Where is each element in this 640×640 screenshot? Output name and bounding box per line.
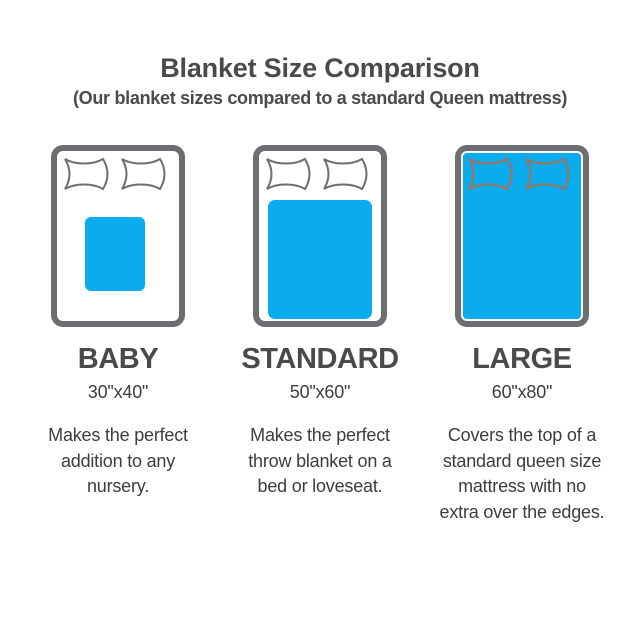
size-name-large: LARGE: [472, 345, 572, 374]
size-dimensions-standard: 50"x60": [290, 383, 350, 401]
size-description-baby: Makes the perfect addition to any nurser…: [33, 423, 203, 500]
pillow-icon-right: [324, 159, 367, 189]
blanket-icon: [85, 217, 145, 291]
page-subtitle: (Our blanket sizes compared to a standar…: [0, 89, 640, 109]
bed-icon: [51, 145, 185, 327]
bed-illustration-large: [455, 145, 589, 327]
pillow-icon-left: [65, 159, 108, 189]
bed-illustration-baby: [51, 145, 185, 327]
page-title: Blanket Size Comparison: [0, 54, 640, 82]
pillow-icon-right: [122, 159, 165, 189]
header: Blanket Size Comparison (Our blanket siz…: [0, 54, 640, 109]
size-dimensions-large: 60"x80": [492, 383, 552, 401]
pillow-icon-left: [267, 159, 310, 189]
size-name-baby: BABY: [78, 345, 159, 374]
comparison-column-baby: BABY 30"x40" Makes the perfect addition …: [26, 145, 210, 525]
size-description-large: Covers the top of a standard queen size …: [437, 423, 607, 525]
comparison-column-large: LARGE 60"x80" Covers the top of a standa…: [430, 145, 614, 525]
bed-icon: [455, 145, 589, 327]
size-description-standard: Makes the perfect throw blanket on a bed…: [235, 423, 405, 500]
comparison-column-standard: STANDARD 50"x60" Makes the perfect throw…: [228, 145, 412, 525]
blanket-icon: [463, 153, 581, 319]
size-name-standard: STANDARD: [241, 345, 398, 374]
comparison-columns: BABY 30"x40" Makes the perfect addition …: [0, 145, 640, 525]
blanket-size-comparison-infographic: Blanket Size Comparison (Our blanket siz…: [0, 0, 640, 640]
size-dimensions-baby: 30"x40": [88, 383, 148, 401]
bed-illustration-standard: [253, 145, 387, 327]
bed-icon: [253, 145, 387, 327]
blanket-icon: [268, 200, 372, 319]
